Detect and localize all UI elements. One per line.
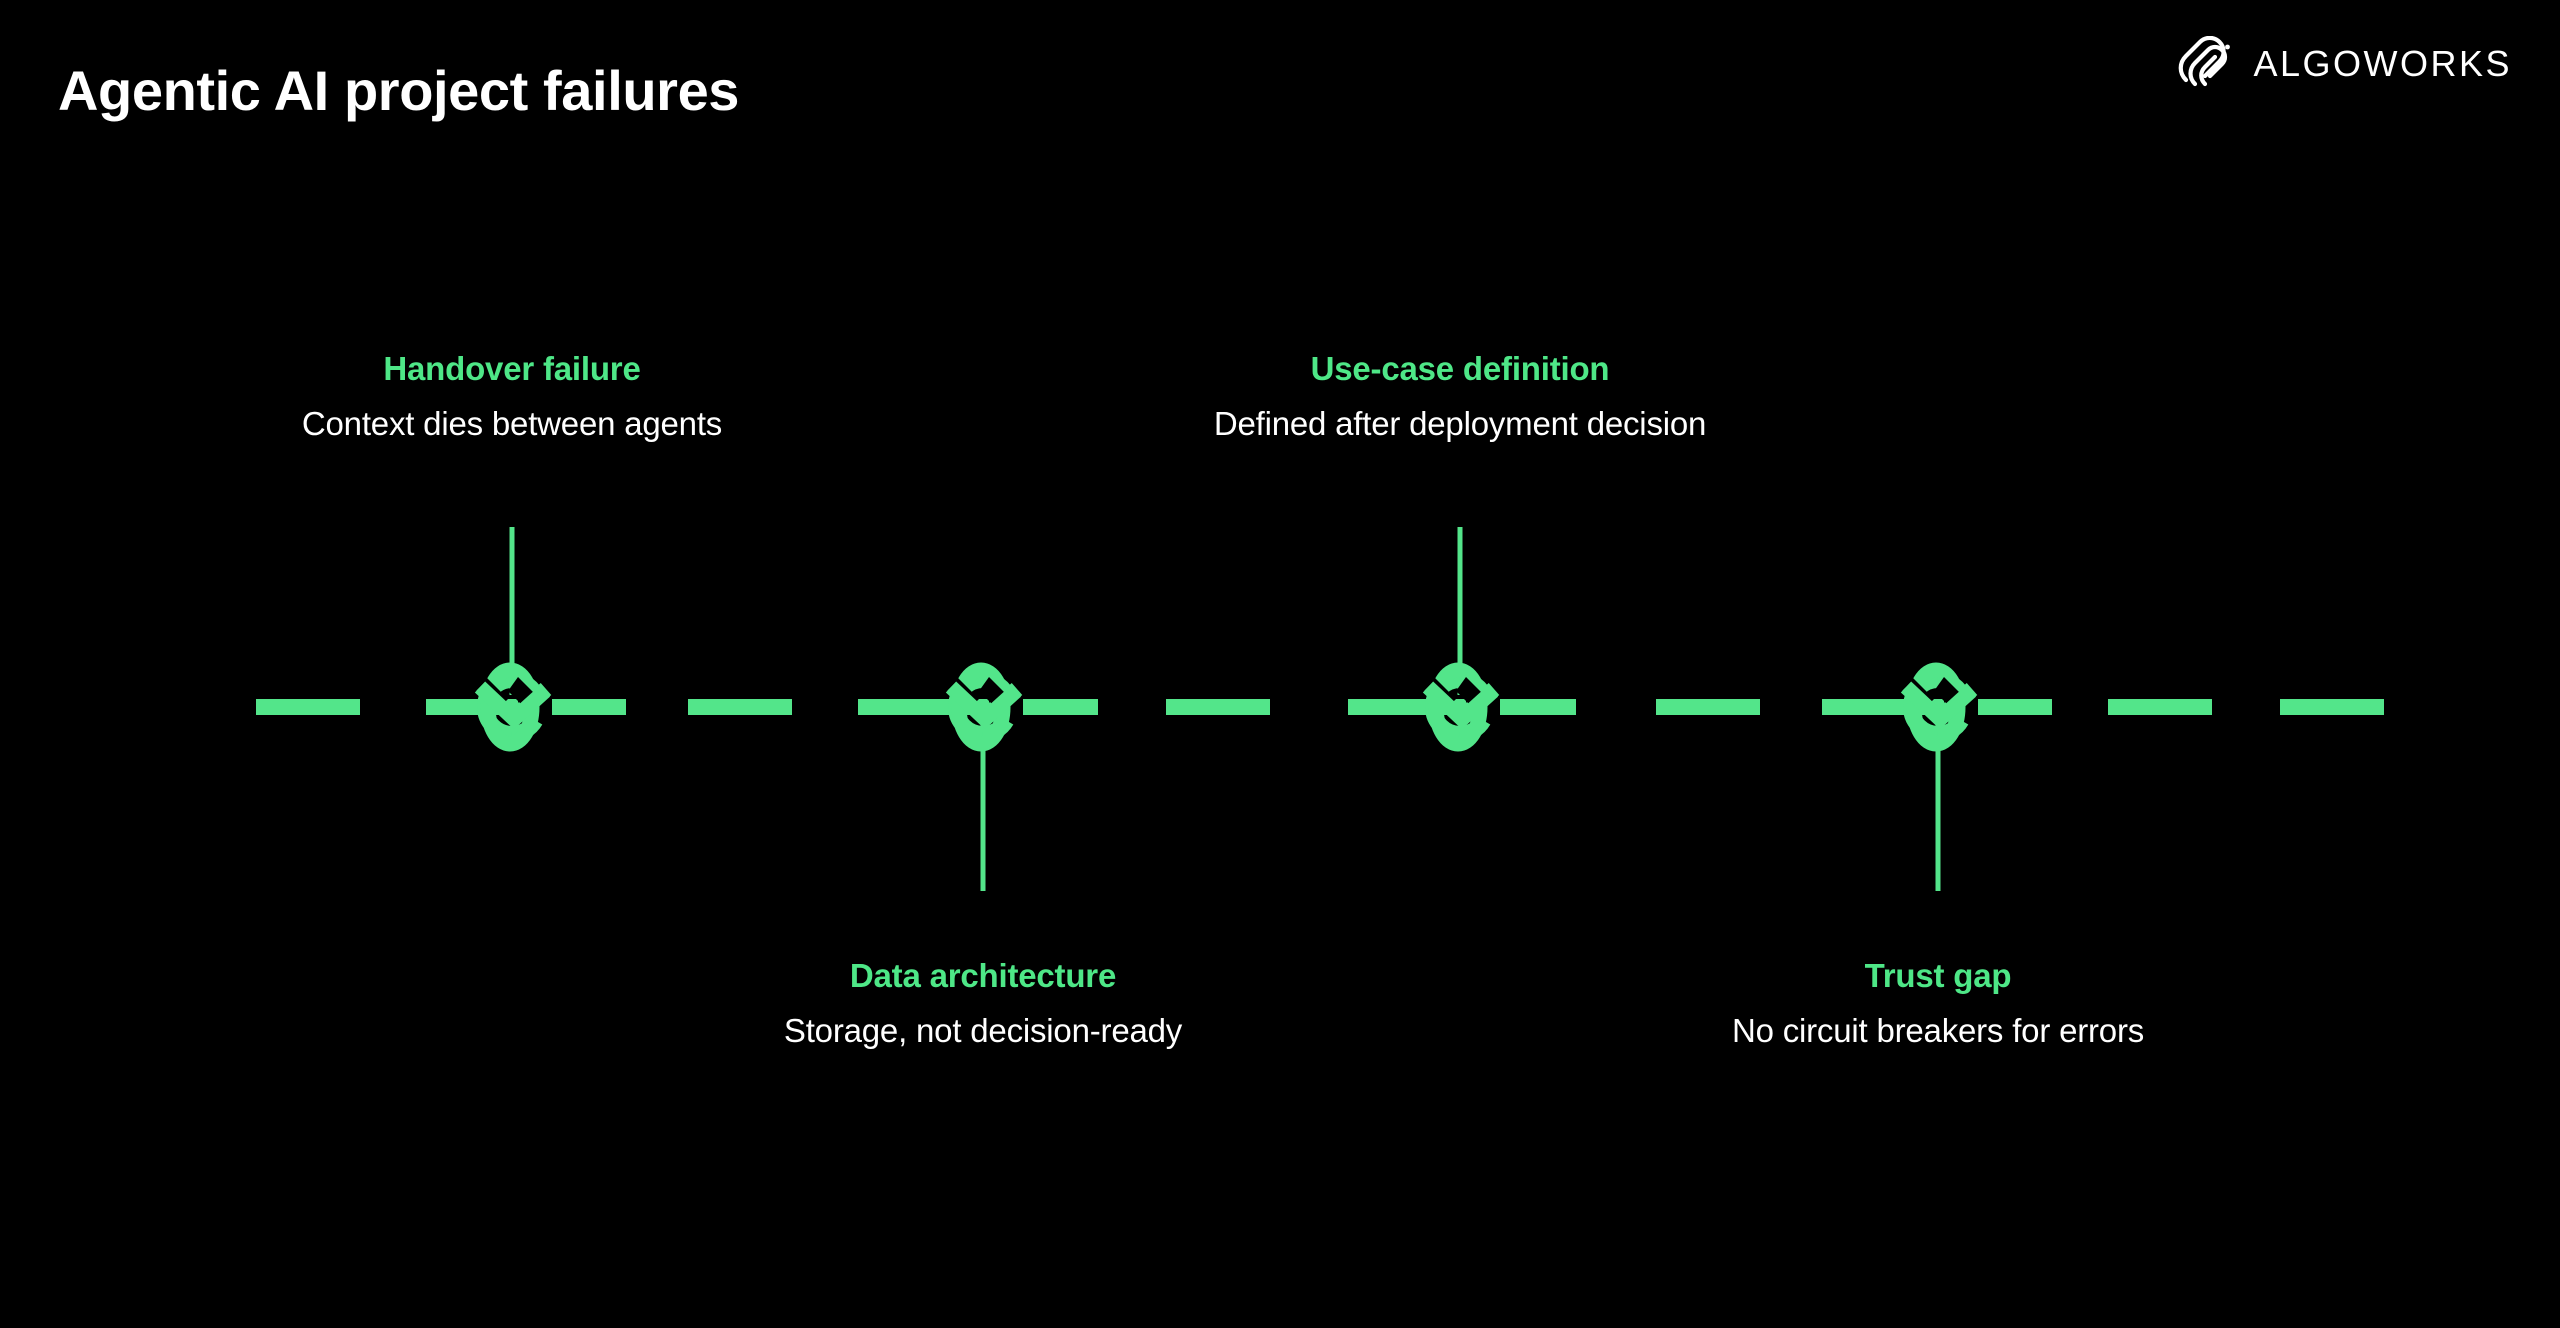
- timeline-node-handover-failure[interactable]: [480, 670, 552, 744]
- timeline-dash: [2108, 699, 2212, 715]
- timeline-dash: [688, 699, 792, 715]
- node-desc-trust-gap: No circuit breakers for errors: [1732, 1010, 2144, 1053]
- timeline-dashes: [256, 699, 2384, 715]
- node-desc-use-case-definition: Defined after deployment decision: [1214, 403, 1706, 446]
- node-title-use-case-definition: Use-case definition: [1214, 348, 1706, 389]
- timeline-node-data-architecture[interactable]: [951, 670, 1023, 744]
- timeline-dash: [256, 699, 360, 715]
- timeline-node-trust-gap[interactable]: [1906, 670, 1978, 744]
- node-label-data-architecture: Data architectureStorage, not decision-r…: [784, 955, 1182, 1053]
- timeline-node-use-case-definition[interactable]: [1428, 670, 1500, 744]
- timeline-dash: [1166, 699, 1270, 715]
- node-label-handover-failure: Handover failureContext dies between age…: [302, 348, 722, 446]
- timeline-diagram: [0, 0, 2560, 1328]
- timeline-dash: [2280, 699, 2384, 715]
- node-title-handover-failure: Handover failure: [302, 348, 722, 389]
- node-label-trust-gap: Trust gapNo circuit breakers for errors: [1732, 955, 2144, 1053]
- node-title-data-architecture: Data architecture: [784, 955, 1182, 996]
- node-title-trust-gap: Trust gap: [1732, 955, 2144, 996]
- node-label-use-case-definition: Use-case definitionDefined after deploym…: [1214, 348, 1706, 446]
- node-desc-data-architecture: Storage, not decision-ready: [784, 1010, 1182, 1053]
- timeline-dash: [1656, 699, 1760, 715]
- node-desc-handover-failure: Context dies between agents: [302, 403, 722, 446]
